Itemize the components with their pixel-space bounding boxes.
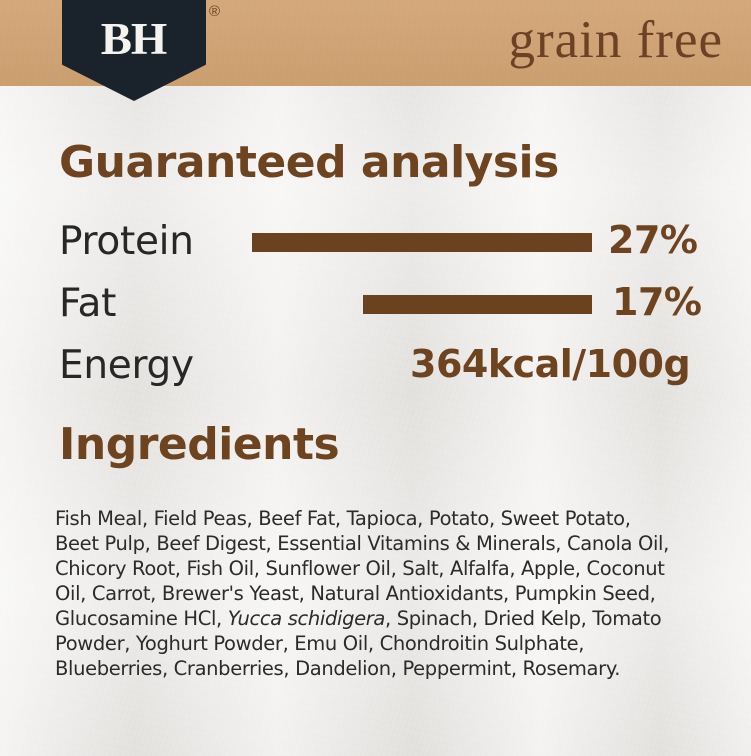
analysis-value-energy: 364kcal/100g — [410, 339, 690, 389]
analysis-value-fat: 17% — [612, 277, 701, 327]
analysis-row-protein: Protein 27% — [0, 217, 751, 273]
analysis-bar-protein — [252, 233, 592, 252]
ingredients-paragraph: Fish Meal, Field Peas, Beef Fat, Tapioca… — [55, 506, 670, 681]
analysis-row-fat: Fat 17% — [0, 279, 751, 335]
grain-free-tagline: grain free — [509, 6, 724, 75]
analysis-row-energy: Energy 364kcal/100g — [0, 341, 751, 397]
guaranteed-analysis-heading: Guaranteed analysis — [59, 141, 559, 185]
header-band: BH ® grain free — [0, 0, 751, 86]
ingredients-scientific-name: Yucca schidigera — [228, 607, 385, 630]
analysis-value-protein: 27% — [608, 215, 697, 265]
product-label-page: BH ® grain free Guaranteed analysis Prot… — [0, 0, 751, 756]
analysis-label-energy: Energy — [59, 341, 194, 391]
brand-shield-logo: BH — [62, 0, 206, 101]
ingredients-heading: Ingredients — [59, 423, 339, 467]
analysis-label-protein: Protein — [59, 217, 194, 267]
brand-logo-text: BH — [101, 17, 167, 62]
analysis-bar-fat — [363, 295, 592, 314]
analysis-label-fat: Fat — [59, 279, 116, 329]
registered-trademark-icon: ® — [209, 4, 220, 19]
